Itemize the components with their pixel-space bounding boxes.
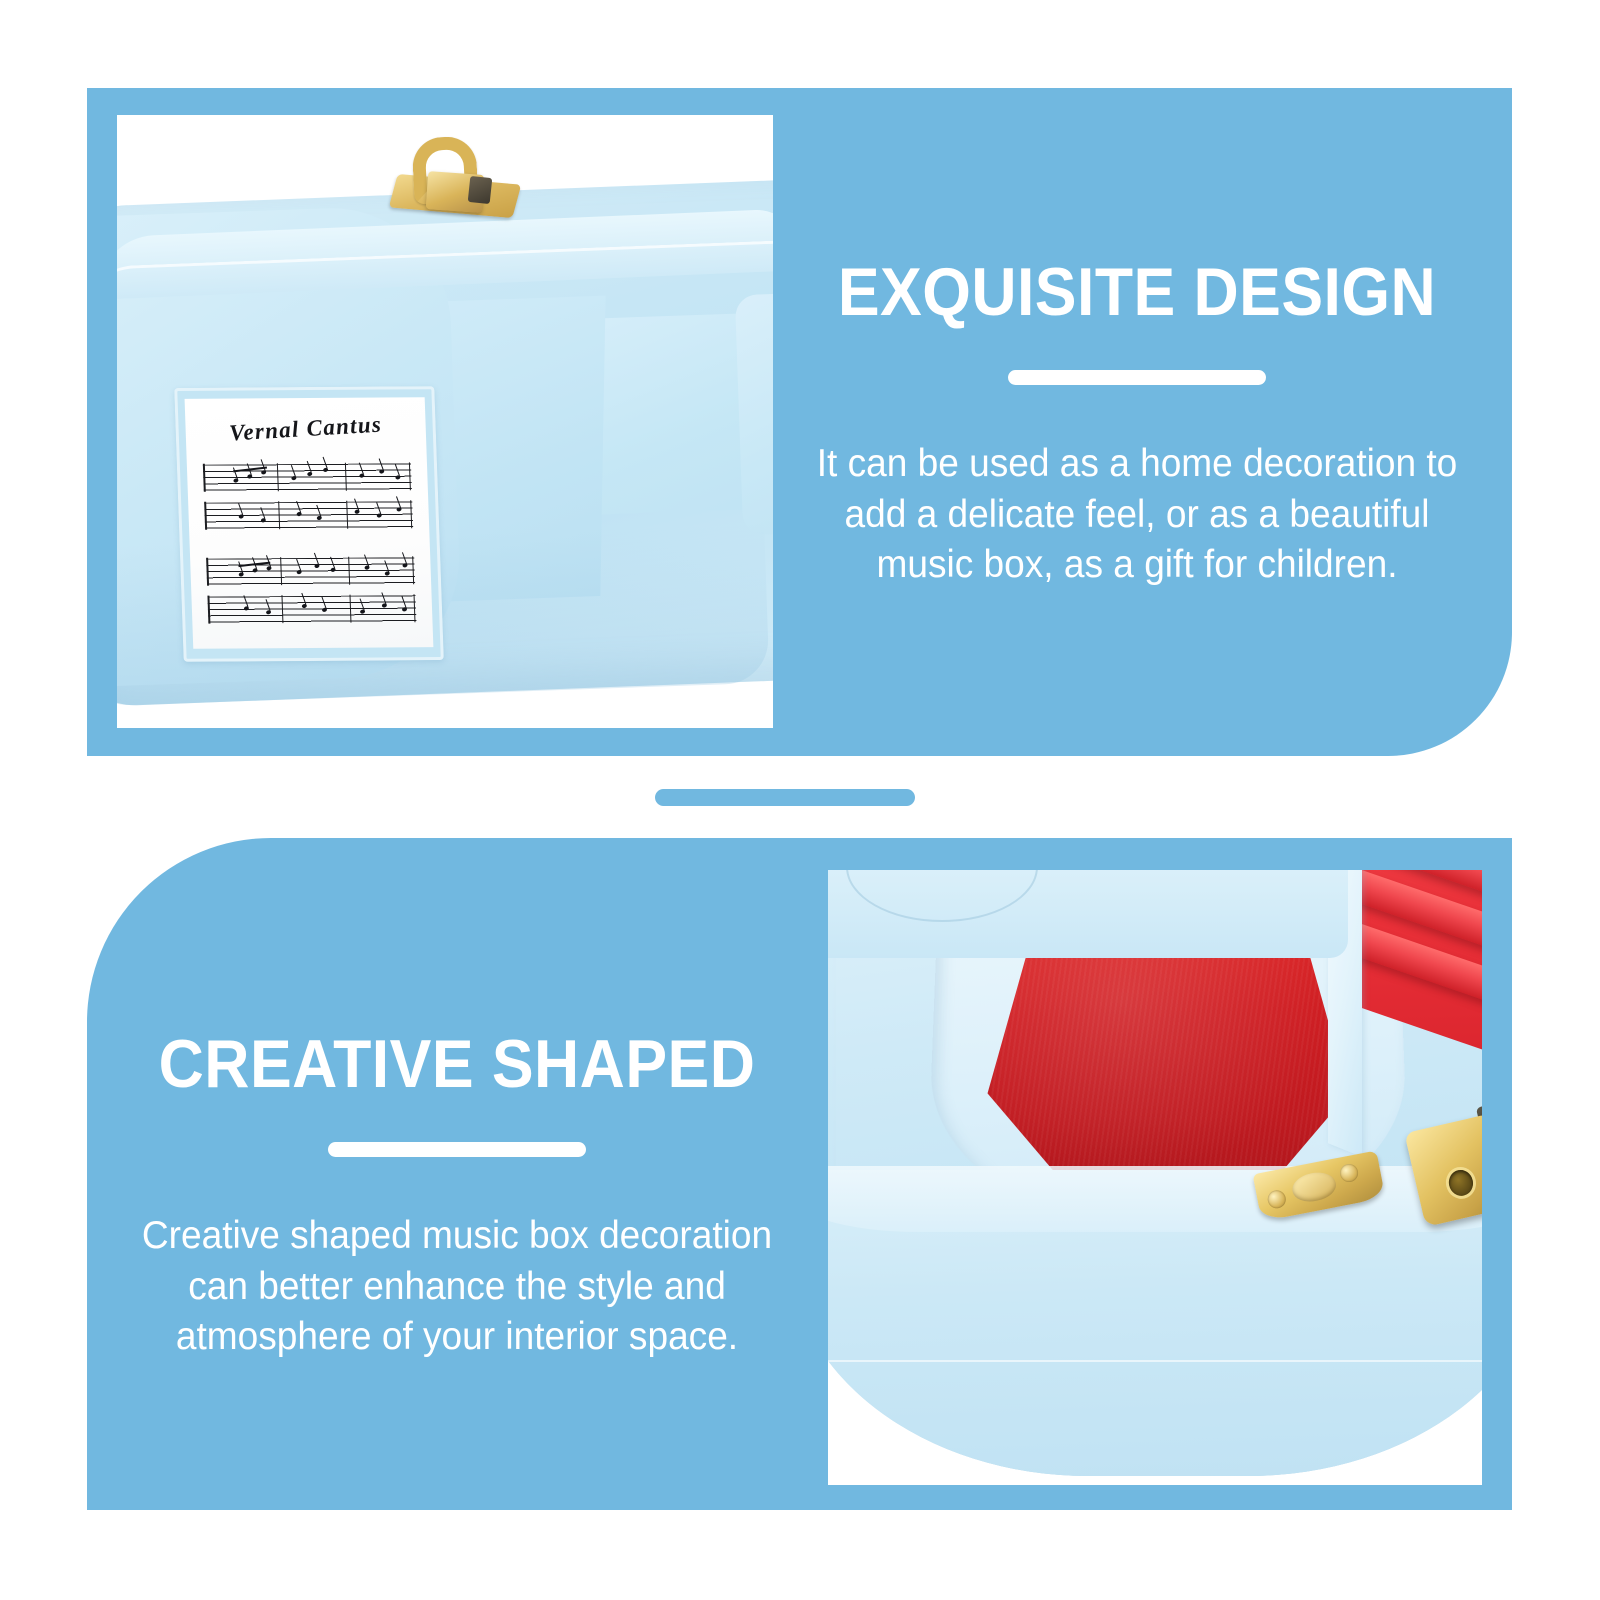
feature-description-creative-shaped: Creative shaped music box decoration can… [125,1211,790,1363]
sheet-music-label-frame: Vernal Cantus [174,386,444,662]
feature-description-exquisite-design: It can be used as a home decoration to a… [805,439,1470,591]
box-front-seam-line [828,1360,1482,1460]
hinge-screw-icon [1339,1162,1360,1183]
feature-title-creative-shaped: CREATIVE SHAPED [135,1030,779,1098]
latch-keyhole-icon [1446,1168,1475,1199]
open-music-box-interior-photo [828,870,1482,1485]
closed-guitar-case-music-box-photo: Vernal Cantus [117,115,773,728]
bass-staff [204,501,413,528]
feature-text-block-exquisite-design: EXQUISITE DESIGN It can be used as a hom… [787,258,1487,591]
screw-ring-groove [846,870,1038,922]
title-underline-rule [1008,370,1266,385]
clasp-dark-detail [468,176,493,204]
sheet-music-title: Vernal Cantus [185,409,427,449]
music-staff-system-1 [203,463,414,540]
treble-staff [206,557,415,584]
feature-title-exquisite-design: EXQUISITE DESIGN [815,258,1459,326]
treble-staff [203,463,412,490]
section-divider-pill [655,789,915,806]
sheet-music-paper: Vernal Cantus [185,397,434,649]
box-upper-edge [828,870,1348,958]
bass-staff [207,595,416,622]
title-underline-rule [328,1142,586,1157]
hinge-emboss-detail [1290,1169,1339,1205]
infographic-stage: Vernal Cantus [0,0,1600,1600]
feature-panel-exquisite-design: Vernal Cantus [87,88,1512,756]
feature-text-block-creative-shaped: CREATIVE SHAPED Creative shaped music bo… [107,1030,807,1363]
feature-panel-creative-shaped: CREATIVE SHAPED Creative shaped music bo… [87,838,1512,1510]
box-front-edge-highlight [828,1166,1482,1232]
music-staff-system-2 [206,557,417,634]
hinge-screw-icon [1266,1189,1287,1210]
